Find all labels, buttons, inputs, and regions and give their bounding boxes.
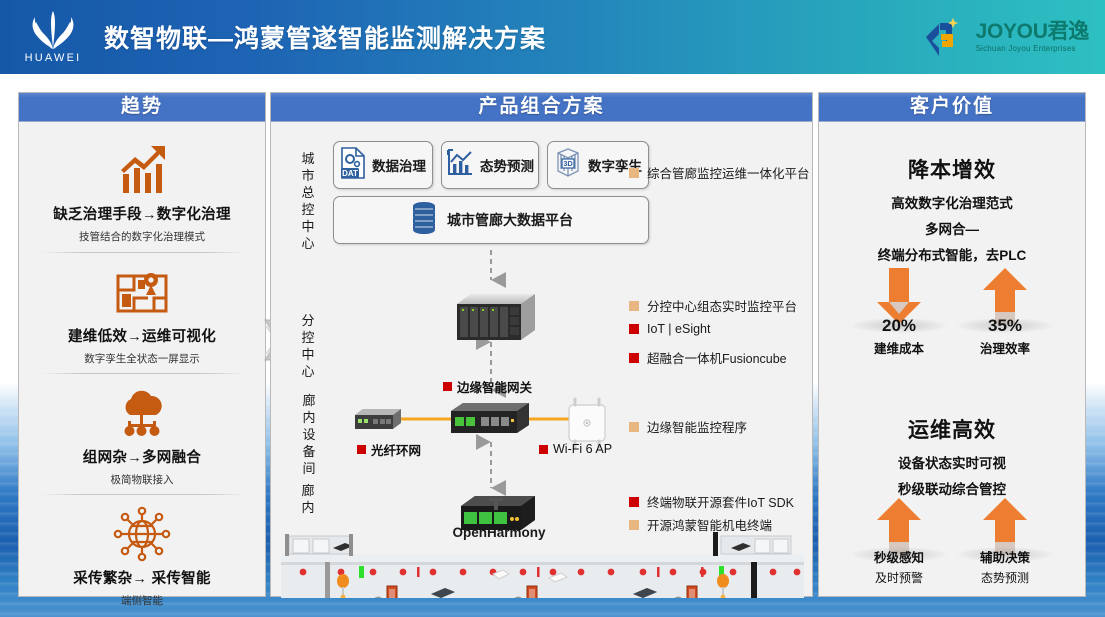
legend-text-0: 综合管廊监控运维一体化平台 xyxy=(647,163,810,182)
value-block-1-line-1: 多网合— xyxy=(819,218,1085,238)
trend-title-0: 缺乏治理手段→数字化治理 xyxy=(19,203,265,224)
value-block-1-line-0: 高效数字化治理范式 xyxy=(819,192,1085,212)
bullet-tan-icon xyxy=(629,520,639,530)
bullet-tan-icon xyxy=(629,168,639,178)
customer-value-panel: 客户价值 降本增效 高效数字化治理范式 多网合— 终端分布式智能，去PLC 20… xyxy=(818,92,1086,597)
joyou-mark-icon xyxy=(920,14,968,60)
legend-item-6: 开源鸿蒙智能机电终端 xyxy=(629,515,772,534)
trend-item-1[interactable]: 建维低效→运维可视化 数字孪生全状态一屏显示 xyxy=(19,264,265,366)
huawei-flower-icon xyxy=(25,11,81,51)
metric-1-value: 35% xyxy=(957,316,1053,336)
value-block-2-line-1: 秒级联动综合管控 xyxy=(819,478,1085,498)
metric-1-text: 35% 治理效率 xyxy=(957,316,1053,357)
device-caption-fiber: 光纤环网 xyxy=(357,440,421,459)
trend-title-3: 采传繁杂→ 采传智能 xyxy=(19,567,265,588)
trend-divider-0 xyxy=(41,252,245,253)
bullet-red-icon xyxy=(357,445,366,454)
bullet-red-icon xyxy=(539,445,548,454)
trend-item-2[interactable]: 组网杂→多网融合 极简物联接入 xyxy=(19,385,265,487)
metric-2-text: 秒级感知 及时预警 xyxy=(851,545,947,586)
legend-item-5: 终端物联开源套件IoT SDK xyxy=(629,492,794,511)
trend-divider-2 xyxy=(41,494,245,495)
bullet-tan-icon xyxy=(629,301,639,311)
customer-value-body: 降本增效 高效数字化治理范式 多网合— 终端分布式智能，去PLC 20% 建维成… xyxy=(819,122,1085,596)
device-caption-wifi: Wi-Fi 6 AP xyxy=(539,442,612,456)
legend-text-4: 边缘智能监控程序 xyxy=(647,417,747,436)
legend-item-3: 超融合一体机Fusioncube xyxy=(629,348,787,367)
metric-0-value: 20% xyxy=(851,316,947,336)
value-block-2-title: 运维高效 xyxy=(819,414,1085,444)
legend-item-4: 边缘智能监控程序 xyxy=(629,417,747,436)
metric-3-text: 辅助决策 态势预测 xyxy=(957,545,1053,586)
globe-nodes-icon xyxy=(19,506,265,562)
huawei-wordmark: HUAWEI xyxy=(16,52,90,64)
trend-sub-2: 极简物联接入 xyxy=(19,472,265,487)
metric-3-value: 辅助决策 xyxy=(957,547,1053,566)
legend-text-2: IoT | eSight xyxy=(647,322,710,336)
trend-sub-3: 端侧智能 xyxy=(19,593,265,608)
metric-2-value: 秒级感知 xyxy=(851,547,947,566)
legend-text-5: 终端物联开源套件IoT SDK xyxy=(647,492,794,511)
device-caption-gateway: 边缘智能网关 xyxy=(443,377,532,396)
legend-text-3: 超融合一体机Fusioncube xyxy=(647,348,787,367)
metric-2-caption: 及时预警 xyxy=(851,569,947,586)
metric-0-caption: 建维成本 xyxy=(851,338,947,357)
bullet-red-icon xyxy=(629,497,639,507)
trend-item-0[interactable]: 缺乏治理手段→数字化治理 技管结合的数字化治理模式 xyxy=(19,142,265,244)
value-block-1-line-2: 终端分布式智能，去PLC xyxy=(819,244,1085,264)
bullet-red-icon xyxy=(629,353,639,363)
product-solution-panel: 产品组合方案 城市总控中心 分控中心 廊内设备间 廊内 DAT 数据治理 xyxy=(270,92,813,597)
map-route-icon xyxy=(19,264,265,320)
trend-divider-1 xyxy=(41,373,245,374)
metric-3-caption: 态势预测 xyxy=(957,569,1053,586)
trend-sub-1: 数字孪生全状态一屏显示 xyxy=(19,351,265,366)
cloud-network-icon xyxy=(19,385,265,441)
legend-item-1: 分控中心组态实时监控平台 xyxy=(629,296,797,315)
device-caption-gateway-label: 边缘智能网关 xyxy=(457,377,532,396)
device-caption-wifi-label: Wi-Fi 6 AP xyxy=(553,442,612,456)
legend-text-6: 开源鸿蒙智能机电终端 xyxy=(647,515,772,534)
huawei-logo: HUAWEI xyxy=(16,11,90,64)
trends-panel-title: 趋势 xyxy=(19,93,265,122)
device-caption-fiber-label: 光纤环网 xyxy=(371,440,421,459)
page-title: 数智物联—鸿蒙管遂智能监测解决方案 xyxy=(104,19,546,55)
trend-item-3[interactable]: 采传繁杂→ 采传智能 端侧智能 xyxy=(19,506,265,608)
joyou-chinese: 君逸 xyxy=(1048,20,1089,43)
trend-chart-icon xyxy=(19,142,265,198)
trends-panel: 趋势 缺乏治理手段→数字化治理 技管结合的数字化治理模式 xyxy=(18,92,266,597)
joyou-latin: JOYOU xyxy=(976,20,1048,43)
value-block-2-line-0: 设备状态实时可视 xyxy=(819,452,1085,472)
product-panel-title: 产品组合方案 xyxy=(271,93,812,122)
product-panel-body: 城市总控中心 分控中心 廊内设备间 廊内 DAT 数据治理 xyxy=(271,122,812,596)
metric-0-text: 20% 建维成本 xyxy=(851,316,947,357)
metric-1-caption: 治理效率 xyxy=(957,338,1053,357)
legend-item-0: 综合管廊监控运维一体化平台 xyxy=(629,163,810,182)
value-block-1-title: 降本增效 xyxy=(819,154,1085,184)
joyou-name: JOYOU君逸 xyxy=(976,21,1089,42)
bullet-red-icon xyxy=(629,324,639,334)
legend-text-1: 分控中心组态实时监控平台 xyxy=(647,296,797,315)
joyou-subtitle: Sichuan Joyou Enterprises xyxy=(976,45,1089,53)
legend-item-2: IoT | eSight xyxy=(629,322,710,336)
bullet-tan-icon xyxy=(629,422,639,432)
joyou-logo: JOYOU君逸 Sichuan Joyou Enterprises xyxy=(920,14,1089,60)
trends-panel-body: 缺乏治理手段→数字化治理 技管结合的数字化治理模式 xyxy=(19,122,265,596)
openharmony-label: OpenHarmony xyxy=(449,525,549,540)
trend-title-1: 建维低效→运维可视化 xyxy=(19,325,265,346)
joyou-text: JOYOU君逸 Sichuan Joyou Enterprises xyxy=(976,21,1089,53)
trend-sub-0: 技管结合的数字化治理模式 xyxy=(19,229,265,244)
trend-title-2: 组网杂→多网融合 xyxy=(19,446,265,467)
bullet-red-icon xyxy=(443,382,452,391)
customer-value-title: 客户价值 xyxy=(819,93,1085,122)
page-header: HUAWEI 数智物联—鸿蒙管遂智能监测解决方案 JOYOU君逸 Sichuan… xyxy=(0,0,1105,74)
